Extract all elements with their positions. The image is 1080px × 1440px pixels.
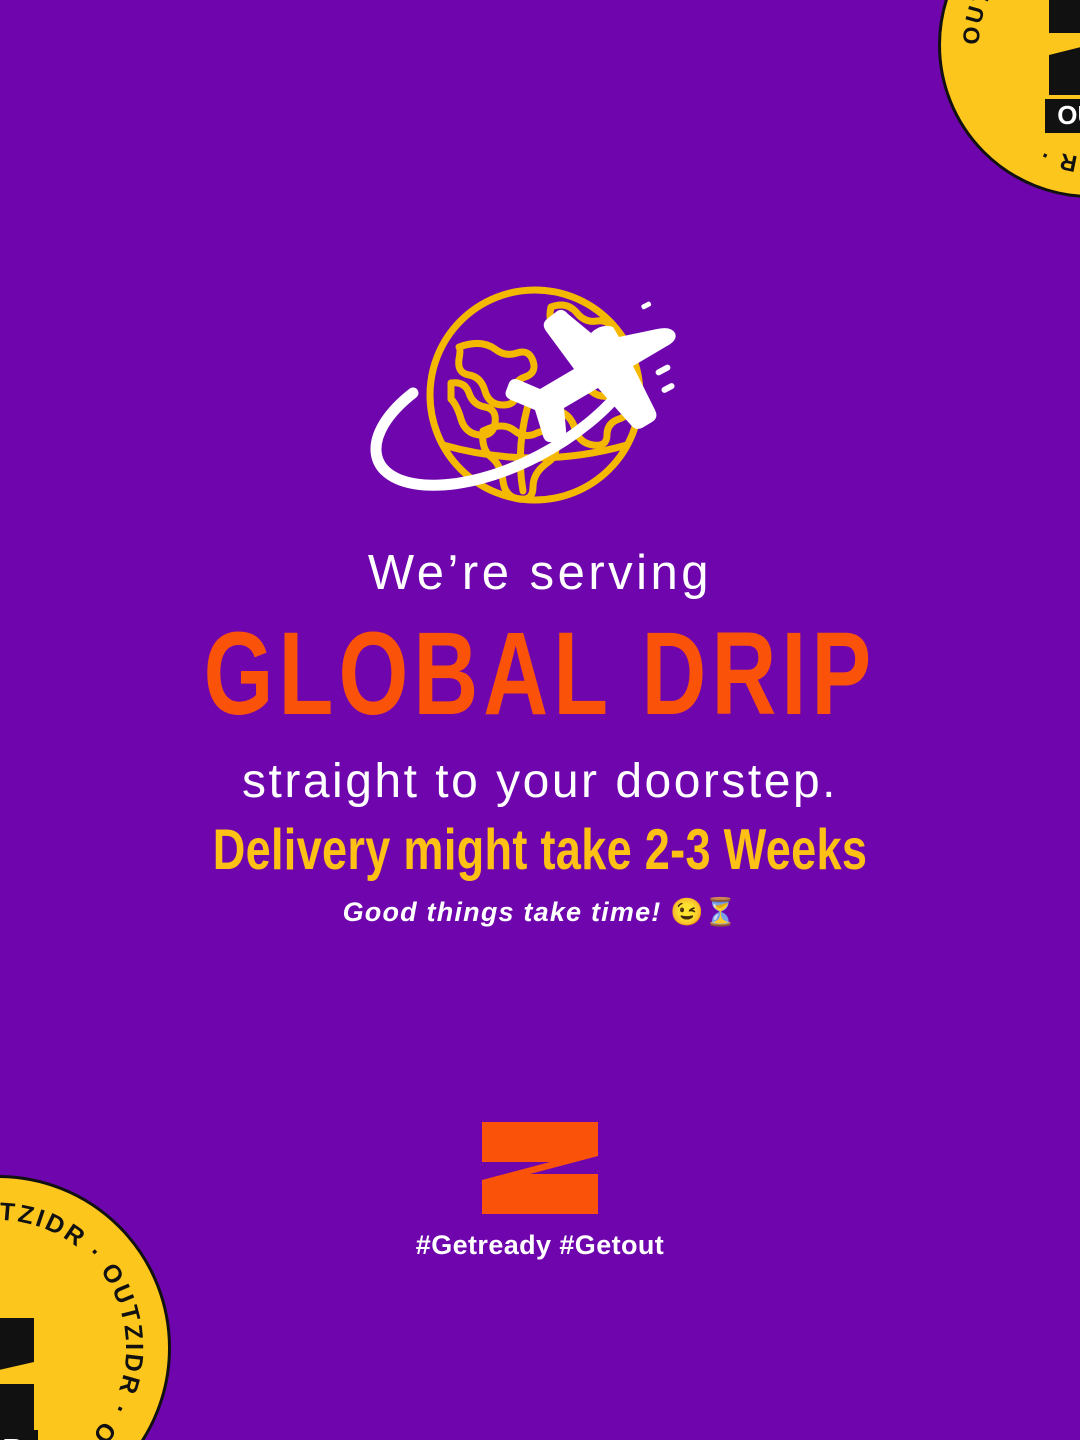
- badge-center-label: OUTZIDR: [0, 1430, 38, 1440]
- delivery-headline: Delivery might take 2-3 Weeks: [22, 818, 1059, 881]
- badge-z-mark: [0, 1318, 34, 1430]
- promo-poster: OUTZIDR · OUTZIDR · OUTZIDR · OUTZIDR · …: [0, 0, 1080, 1440]
- delivery-subtext-label: Good things take time!: [343, 897, 662, 927]
- headline-line-1: We’re serving: [0, 548, 1080, 599]
- badge-z-mark: [1049, 0, 1080, 95]
- svg-text:OUTZIDR: OUTZIDR: [0, 1434, 23, 1440]
- headline-line-3: straight to your doorstep.: [0, 757, 1080, 807]
- badge-center-label: OUTZIDR: [1045, 99, 1080, 133]
- headline-block: We’re serving GLOBAL DRIP straight to yo…: [0, 548, 1080, 808]
- footer-hashtags: #Getready #Getout: [0, 1230, 1080, 1261]
- headline-line-2: GLOBAL DRIP: [0, 615, 1080, 733]
- globe-airplane-illustration: [355, 275, 715, 515]
- footer-block: #Getready #Getout: [0, 1120, 1080, 1261]
- outzidr-badge-top-right: OUTZIDR · OUTZIDR · OUTZIDR · OUTZIDR · …: [938, 0, 1080, 198]
- orbit-swoosh-icon: [376, 383, 627, 485]
- delivery-subtext: Good things take time! 😉⏳: [0, 896, 1080, 928]
- svg-text:OUTZIDR: OUTZIDR: [1057, 100, 1080, 130]
- outzidr-z-logo: [478, 1120, 602, 1218]
- wink-hourglass-emoji: 😉⏳: [670, 897, 737, 927]
- delivery-block: Delivery might take 2-3 Weeks Good thing…: [0, 818, 1080, 928]
